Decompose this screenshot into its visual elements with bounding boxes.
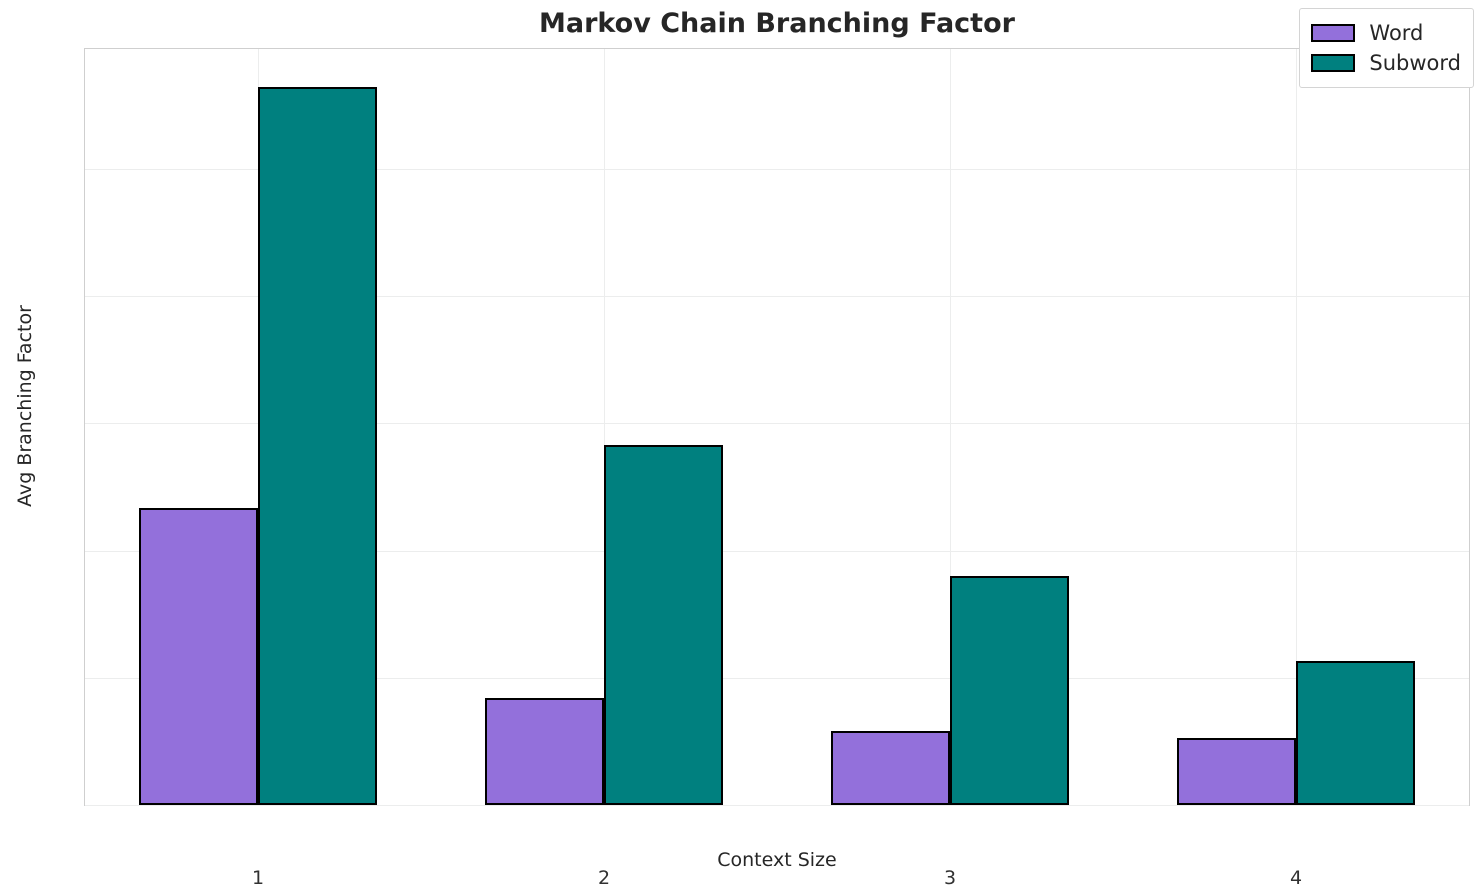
legend-label: Word [1369, 21, 1423, 45]
chart-title: Markov Chain Branching Factor [84, 8, 1470, 40]
legend-swatch-subword [1311, 54, 1355, 72]
y-axis-label: Avg Branching Factor [14, 236, 36, 576]
x-axis-label: Context Size [84, 849, 1470, 871]
chart-legend[interactable]: WordSubword [1299, 8, 1474, 88]
bar-subword-ctx-2 [604, 445, 723, 805]
chart-figure: Markov Chain Branching Factor 0246810123… [0, 0, 1484, 885]
legend-swatch-word [1311, 24, 1355, 42]
plot-area: 02468101234 [84, 48, 1470, 806]
legend-label: Subword [1369, 51, 1461, 75]
bar-subword-ctx-3 [950, 576, 1069, 805]
bar-subword-ctx-1 [258, 87, 377, 806]
bar-subword-ctx-4 [1296, 661, 1415, 806]
bar-word-ctx-3 [831, 731, 950, 806]
legend-item-subword[interactable]: Subword [1311, 48, 1461, 78]
gridline-horizontal [85, 805, 1469, 806]
bar-word-ctx-2 [485, 698, 604, 805]
plot-inner: 02468101234 [85, 49, 1469, 805]
bar-word-ctx-4 [1177, 738, 1296, 805]
bar-word-ctx-1 [139, 508, 258, 805]
legend-item-word[interactable]: Word [1311, 18, 1461, 48]
